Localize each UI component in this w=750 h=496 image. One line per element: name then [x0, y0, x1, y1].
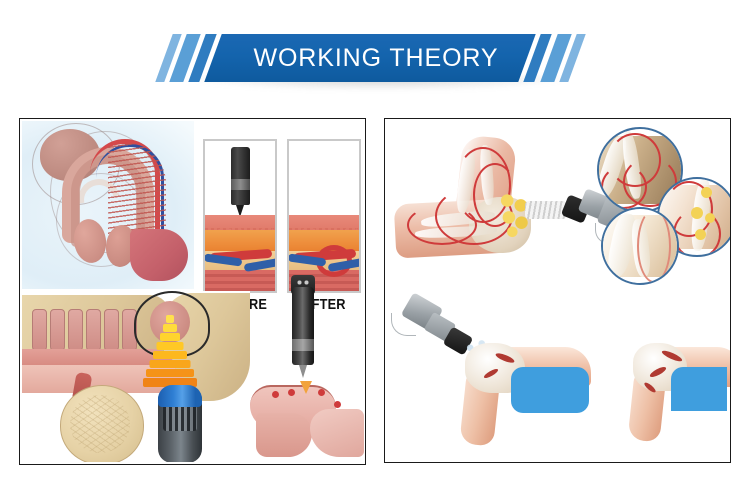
after-image-box — [287, 139, 361, 293]
skin-cross-section-before — [203, 215, 277, 291]
inset-artery-c — [601, 165, 647, 209]
beam-layer-5 — [153, 351, 187, 359]
tissue-inset-3 — [601, 207, 679, 285]
knee-treatment-figure — [399, 299, 717, 449]
beam-layer-1 — [166, 315, 174, 323]
energy-arrow — [300, 381, 312, 394]
inset-fat-4 — [695, 229, 706, 240]
inset-fat-3 — [705, 213, 715, 223]
handheld-probe — [292, 287, 314, 365]
page-title: WORKING THEORY — [160, 34, 592, 82]
inset-fat-1 — [701, 187, 712, 198]
treatment-point-3 — [318, 389, 325, 396]
probe-spring-wave — [525, 201, 567, 219]
tissue-lobe-lower-left — [256, 413, 312, 457]
vertebra-1 — [32, 309, 47, 351]
working-theory-banner: WORKING THEORY — [160, 34, 592, 82]
inset-fat-2 — [691, 207, 703, 219]
treatment-point-4 — [334, 401, 341, 408]
probe-collar — [292, 339, 314, 351]
vertebra-3 — [68, 309, 83, 351]
vertebra-2 — [50, 309, 65, 351]
penis-anatomy-figure — [22, 121, 194, 289]
elbow-treatment-figure — [401, 143, 615, 283]
beam-layer-4 — [157, 342, 184, 350]
right-illustration-panel — [384, 118, 731, 463]
handpiece-vents — [163, 405, 197, 431]
beam-layer-2 — [163, 324, 177, 332]
probe-tissue-figure — [248, 287, 366, 462]
treatment-point-1 — [272, 391, 279, 398]
beam-layer-3 — [160, 333, 180, 341]
vertebra-5 — [104, 309, 119, 351]
treatment-point-2 — [288, 389, 295, 396]
tissue-cross-section — [248, 379, 366, 457]
crop-block-left — [511, 367, 589, 413]
scrotum-texture — [70, 395, 130, 453]
left-illustration-panel: BEFORE AFTER — [19, 118, 366, 465]
page-header: WORKING THEORY — [0, 0, 750, 110]
probe-tip — [299, 365, 307, 378]
tissue-lobe-right — [310, 409, 364, 457]
handpiece-blue-cap — [158, 385, 202, 407]
probe-grip-band — [231, 179, 250, 190]
pelvic-sagittal-figure — [22, 291, 250, 462]
beam-layer-6 — [150, 360, 191, 368]
before-image-box — [203, 139, 277, 293]
glans-shape — [130, 229, 188, 281]
epidermis-layer — [287, 215, 361, 231]
shockwave-probe-icon — [231, 147, 250, 205]
vertebra-4 — [86, 309, 101, 351]
crop-block-right — [671, 367, 727, 411]
inset-artery-a — [637, 209, 671, 283]
epidermis-layer — [203, 215, 277, 231]
beam-layer-7 — [146, 369, 194, 377]
artery-branch-3 — [407, 205, 477, 245]
